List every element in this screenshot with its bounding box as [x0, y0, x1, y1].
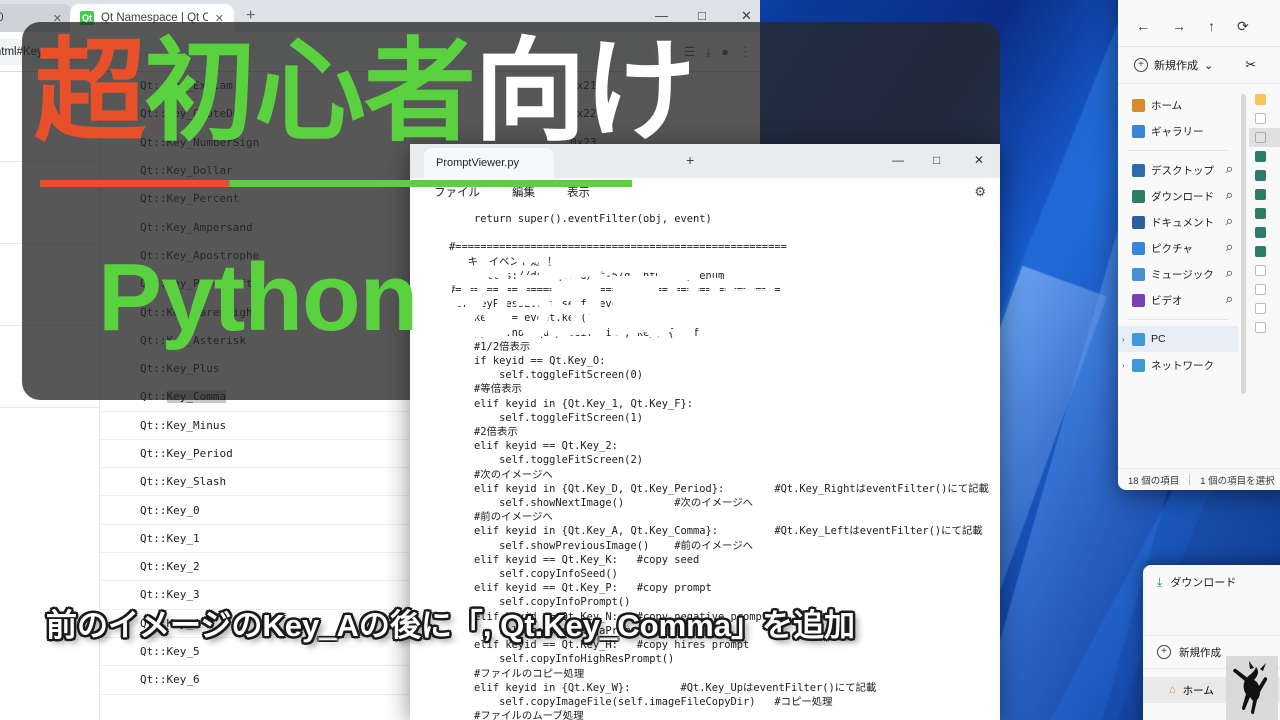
- explorer-status-bar: 18 個の項目 1 個の項目を選択: [1118, 468, 1280, 490]
- overlay-title-line2: Python勉強動画01: [98, 250, 902, 346]
- sidebar-item-label: ネットワーク: [1151, 358, 1214, 373]
- sidebar-item-pc[interactable]: ›PC: [1118, 326, 1238, 352]
- window-maximize-button[interactable]: □: [933, 153, 940, 167]
- window-minimize-button[interactable]: —: [892, 153, 904, 167]
- chevron-right-icon[interactable]: ›: [1122, 361, 1125, 370]
- desktop-icon: [1132, 164, 1145, 177]
- file-icon: [1255, 132, 1266, 143]
- sidebar-item-label: デスクトップ: [1151, 163, 1214, 178]
- explorer2-titlebar: ⤓ ダウンロード: [1143, 565, 1280, 599]
- python-file-icon: [1255, 170, 1266, 181]
- selected-count-label: 1 個の項目を選択: [1200, 473, 1274, 487]
- explorer-nav-tree: ホームギャラリーデスクトップ⚲ダウンロード⚲ドキュメント⚲ピクチャ⚲ミュージック…: [1118, 84, 1238, 468]
- sidebar-item-document[interactable]: ドキュメント⚲: [1118, 209, 1238, 235]
- list-item[interactable]: [1249, 166, 1280, 185]
- file-icon: [1255, 113, 1266, 124]
- list-item[interactable]: [1249, 147, 1280, 166]
- pc-icon: [1132, 333, 1145, 346]
- sidebar-item-gallery[interactable]: ギャラリー: [1118, 118, 1238, 144]
- sidebar-item-label: ピクチャ: [1151, 241, 1193, 256]
- title-segment: 勉強動画01: [417, 244, 902, 351]
- sidebar-item-pictures[interactable]: ピクチャ⚲: [1118, 235, 1238, 261]
- list-item[interactable]: [1249, 90, 1280, 109]
- divider: [1189, 474, 1190, 485]
- overlay-title-line1: 超初心者向け: [34, 36, 694, 148]
- title-segment: 向け: [474, 29, 694, 154]
- sidebar-item-desktop[interactable]: デスクトップ⚲: [1118, 157, 1238, 183]
- back-icon[interactable]: ←: [1136, 18, 1150, 34]
- python-file-icon: [1255, 151, 1266, 162]
- list-item[interactable]: [1249, 109, 1280, 128]
- dancing-cat-icon: [1230, 659, 1274, 717]
- item-count-label: 18 個の項目: [1128, 473, 1179, 487]
- pin-icon[interactable]: ⚲: [1222, 190, 1234, 202]
- plus-icon: +: [1134, 58, 1148, 72]
- explorer-body: ホームギャラリーデスクトップ⚲ダウンロード⚲ドキュメント⚲ピクチャ⚲ミュージック…: [1118, 84, 1280, 468]
- python-file-icon: [1255, 189, 1266, 200]
- list-item[interactable]: [1249, 261, 1280, 280]
- file-explorer-window: PromptViewer ← → ↑ ⟳ + 新規作成 ⌄ ✂ ホームギャラリー…: [1118, 0, 1280, 490]
- forward-icon[interactable]: →: [1172, 18, 1186, 34]
- sidebar-item-label: ビデオ: [1151, 293, 1183, 308]
- title-segment: 初心者: [144, 29, 474, 154]
- title-segment: 超: [34, 29, 144, 154]
- file-icon: [1255, 303, 1266, 314]
- overlay-subtitle: 前のイメージのKey_Aの後に「, Qt.Key_Comma」を追加: [46, 600, 855, 645]
- up-icon[interactable]: ↑: [1208, 18, 1215, 34]
- video-icon: [1132, 294, 1145, 307]
- document-icon: [1132, 216, 1145, 229]
- explorer-file-list[interactable]: [1249, 84, 1280, 468]
- pictures-icon: [1132, 242, 1145, 255]
- explorer-scrollbar[interactable]: [1241, 94, 1246, 394]
- music-icon: [1132, 268, 1145, 281]
- sidebar-item-label: ドキュメント: [1151, 215, 1214, 230]
- python-file-icon: [1255, 246, 1266, 257]
- sidebar-item-label: ダウンロード: [1151, 189, 1214, 204]
- python-file-icon: [1255, 208, 1266, 219]
- file-icon: [1255, 322, 1266, 333]
- sidebar-item-label: PC: [1151, 333, 1166, 345]
- pin-icon[interactable]: ⚲: [1222, 242, 1234, 254]
- home-icon: ⌂: [1169, 684, 1176, 696]
- chevron-down-icon: ⌄: [1204, 59, 1213, 72]
- explorer2-navbar: ↑: [1143, 599, 1280, 635]
- list-item[interactable]: [1249, 223, 1280, 242]
- list-item[interactable]: [1249, 185, 1280, 204]
- pin-icon[interactable]: ⚲: [1222, 216, 1234, 228]
- gallery-icon: [1132, 125, 1145, 138]
- new-item-button[interactable]: + 新規作成 ⌄: [1134, 57, 1213, 73]
- pin-icon[interactable]: ⚲: [1222, 268, 1234, 280]
- sidebar-item-label: ホーム: [1151, 98, 1182, 113]
- download-icon: ⤓: [1157, 575, 1162, 590]
- sidebar-item-video[interactable]: ビデオ⚲: [1118, 287, 1238, 313]
- chevron-right-icon[interactable]: ›: [1122, 335, 1125, 344]
- cat-thumbnail-image: [1226, 656, 1278, 720]
- list-item[interactable]: [1249, 299, 1280, 318]
- divider: [1128, 150, 1228, 151]
- sidebar-item-network[interactable]: ›ネットワーク: [1118, 352, 1238, 378]
- sidebar-item-label: ミュージック: [1151, 267, 1214, 282]
- new-item-label: 新規作成: [1154, 57, 1198, 73]
- scissors-icon[interactable]: ✂: [1245, 57, 1256, 73]
- list-item[interactable]: [1249, 204, 1280, 223]
- list-item[interactable]: [1249, 128, 1280, 147]
- sidebar-item-label: ギャラリー: [1151, 124, 1204, 139]
- explorer-command-bar: + 新規作成 ⌄ ✂: [1118, 46, 1280, 84]
- pin-icon[interactable]: ⚲: [1222, 294, 1234, 306]
- gear-icon[interactable]: ⚙: [974, 184, 986, 200]
- explorer-navbar: ← → ↑ ⟳: [1118, 6, 1280, 46]
- sidebar-item-download[interactable]: ダウンロード⚲: [1118, 183, 1238, 209]
- download-icon: [1132, 190, 1145, 203]
- overlay-underline: [40, 180, 632, 187]
- new-tab-button[interactable]: +: [686, 152, 694, 168]
- list-item[interactable]: [1249, 280, 1280, 299]
- list-item[interactable]: [1249, 318, 1280, 337]
- sidebar-item-label: ホーム: [1183, 683, 1214, 698]
- home-icon: [1132, 99, 1145, 112]
- explorer2-title: ダウンロード: [1170, 574, 1236, 590]
- sidebar-item-home[interactable]: ホーム: [1118, 92, 1238, 118]
- window-close-button[interactable]: ✕: [974, 153, 984, 167]
- file-icon: [1255, 284, 1266, 295]
- python-file-icon: [1255, 227, 1266, 238]
- title-segment: Python: [98, 244, 417, 351]
- new-item-label[interactable]: 新規作成: [1179, 645, 1221, 660]
- network-icon: [1132, 359, 1145, 372]
- divider: [1128, 319, 1228, 320]
- pin-icon[interactable]: ⚲: [1222, 164, 1234, 176]
- sidebar-item-music[interactable]: ミュージック⚲: [1118, 261, 1238, 287]
- file-icon: [1255, 265, 1266, 276]
- plus-icon: +: [1157, 645, 1171, 659]
- list-item[interactable]: [1249, 242, 1280, 261]
- refresh-icon[interactable]: ⟳: [1237, 18, 1249, 35]
- folder-icon: [1255, 94, 1266, 105]
